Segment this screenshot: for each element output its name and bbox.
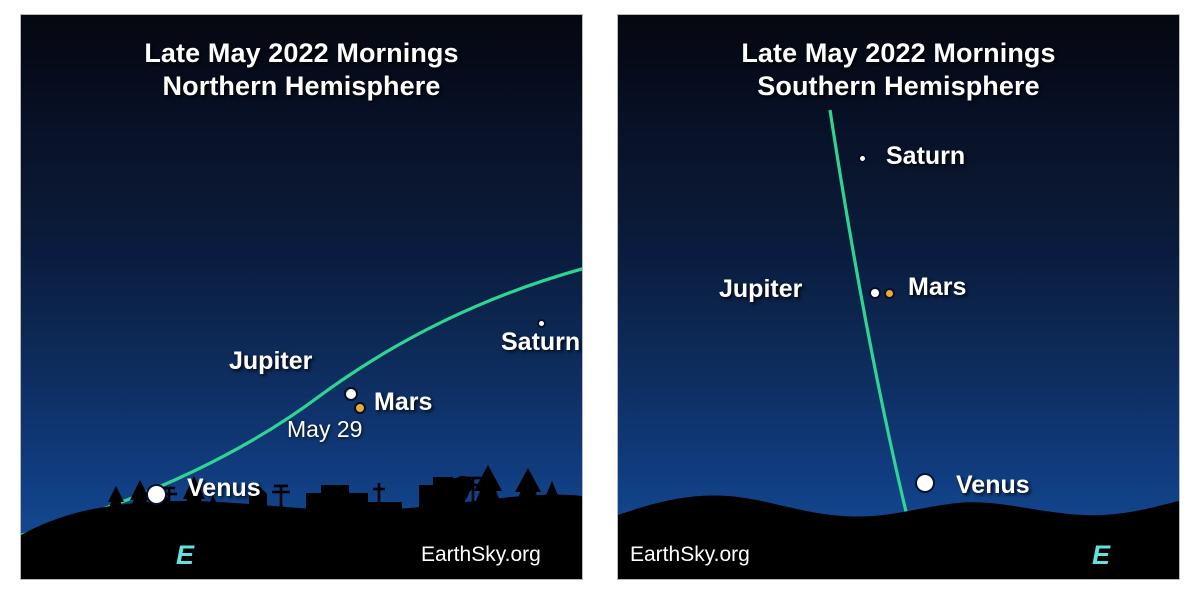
jupiter-label-south: Jupiter bbox=[719, 275, 802, 304]
jupiter-label-north: Jupiter bbox=[229, 347, 312, 376]
compass-east-north: E bbox=[176, 540, 194, 571]
sky-chart-figure: Late May 2022 Mornings Northern Hemisphe… bbox=[0, 0, 1200, 600]
date-annotation-north: May 29 bbox=[287, 416, 362, 443]
credit-watermark-south: EarthSky.org bbox=[630, 543, 750, 567]
venus-dot-south bbox=[915, 473, 935, 493]
credit-watermark-north: EarthSky.org bbox=[421, 543, 541, 567]
ecliptic-line-south bbox=[830, 110, 908, 520]
saturn-label-north: Saturn bbox=[501, 328, 580, 357]
panel-title-south: Late May 2022 Mornings Southern Hemisphe… bbox=[618, 37, 1179, 103]
compass-east-south: E bbox=[1092, 540, 1110, 571]
panel-southern-hemisphere: Late May 2022 Mornings Southern Hemisphe… bbox=[617, 14, 1180, 580]
jupiter-dot-north bbox=[344, 387, 358, 401]
mars-dot-south bbox=[884, 288, 895, 299]
panel-title-north: Late May 2022 Mornings Northern Hemisphe… bbox=[21, 37, 582, 103]
mars-label-north: Mars bbox=[374, 388, 432, 417]
venus-label-south: Venus bbox=[956, 471, 1030, 500]
saturn-dot-south bbox=[858, 154, 867, 163]
mars-label-south: Mars bbox=[908, 273, 966, 302]
saturn-label-south: Saturn bbox=[886, 142, 965, 171]
panel-northern-hemisphere: Late May 2022 Mornings Northern Hemisphe… bbox=[20, 14, 583, 580]
saturn-dot-north bbox=[537, 319, 546, 328]
jupiter-dot-south bbox=[869, 287, 881, 299]
venus-dot-north bbox=[146, 484, 167, 505]
mars-dot-north bbox=[354, 402, 366, 414]
venus-label-north: Venus bbox=[187, 474, 261, 503]
